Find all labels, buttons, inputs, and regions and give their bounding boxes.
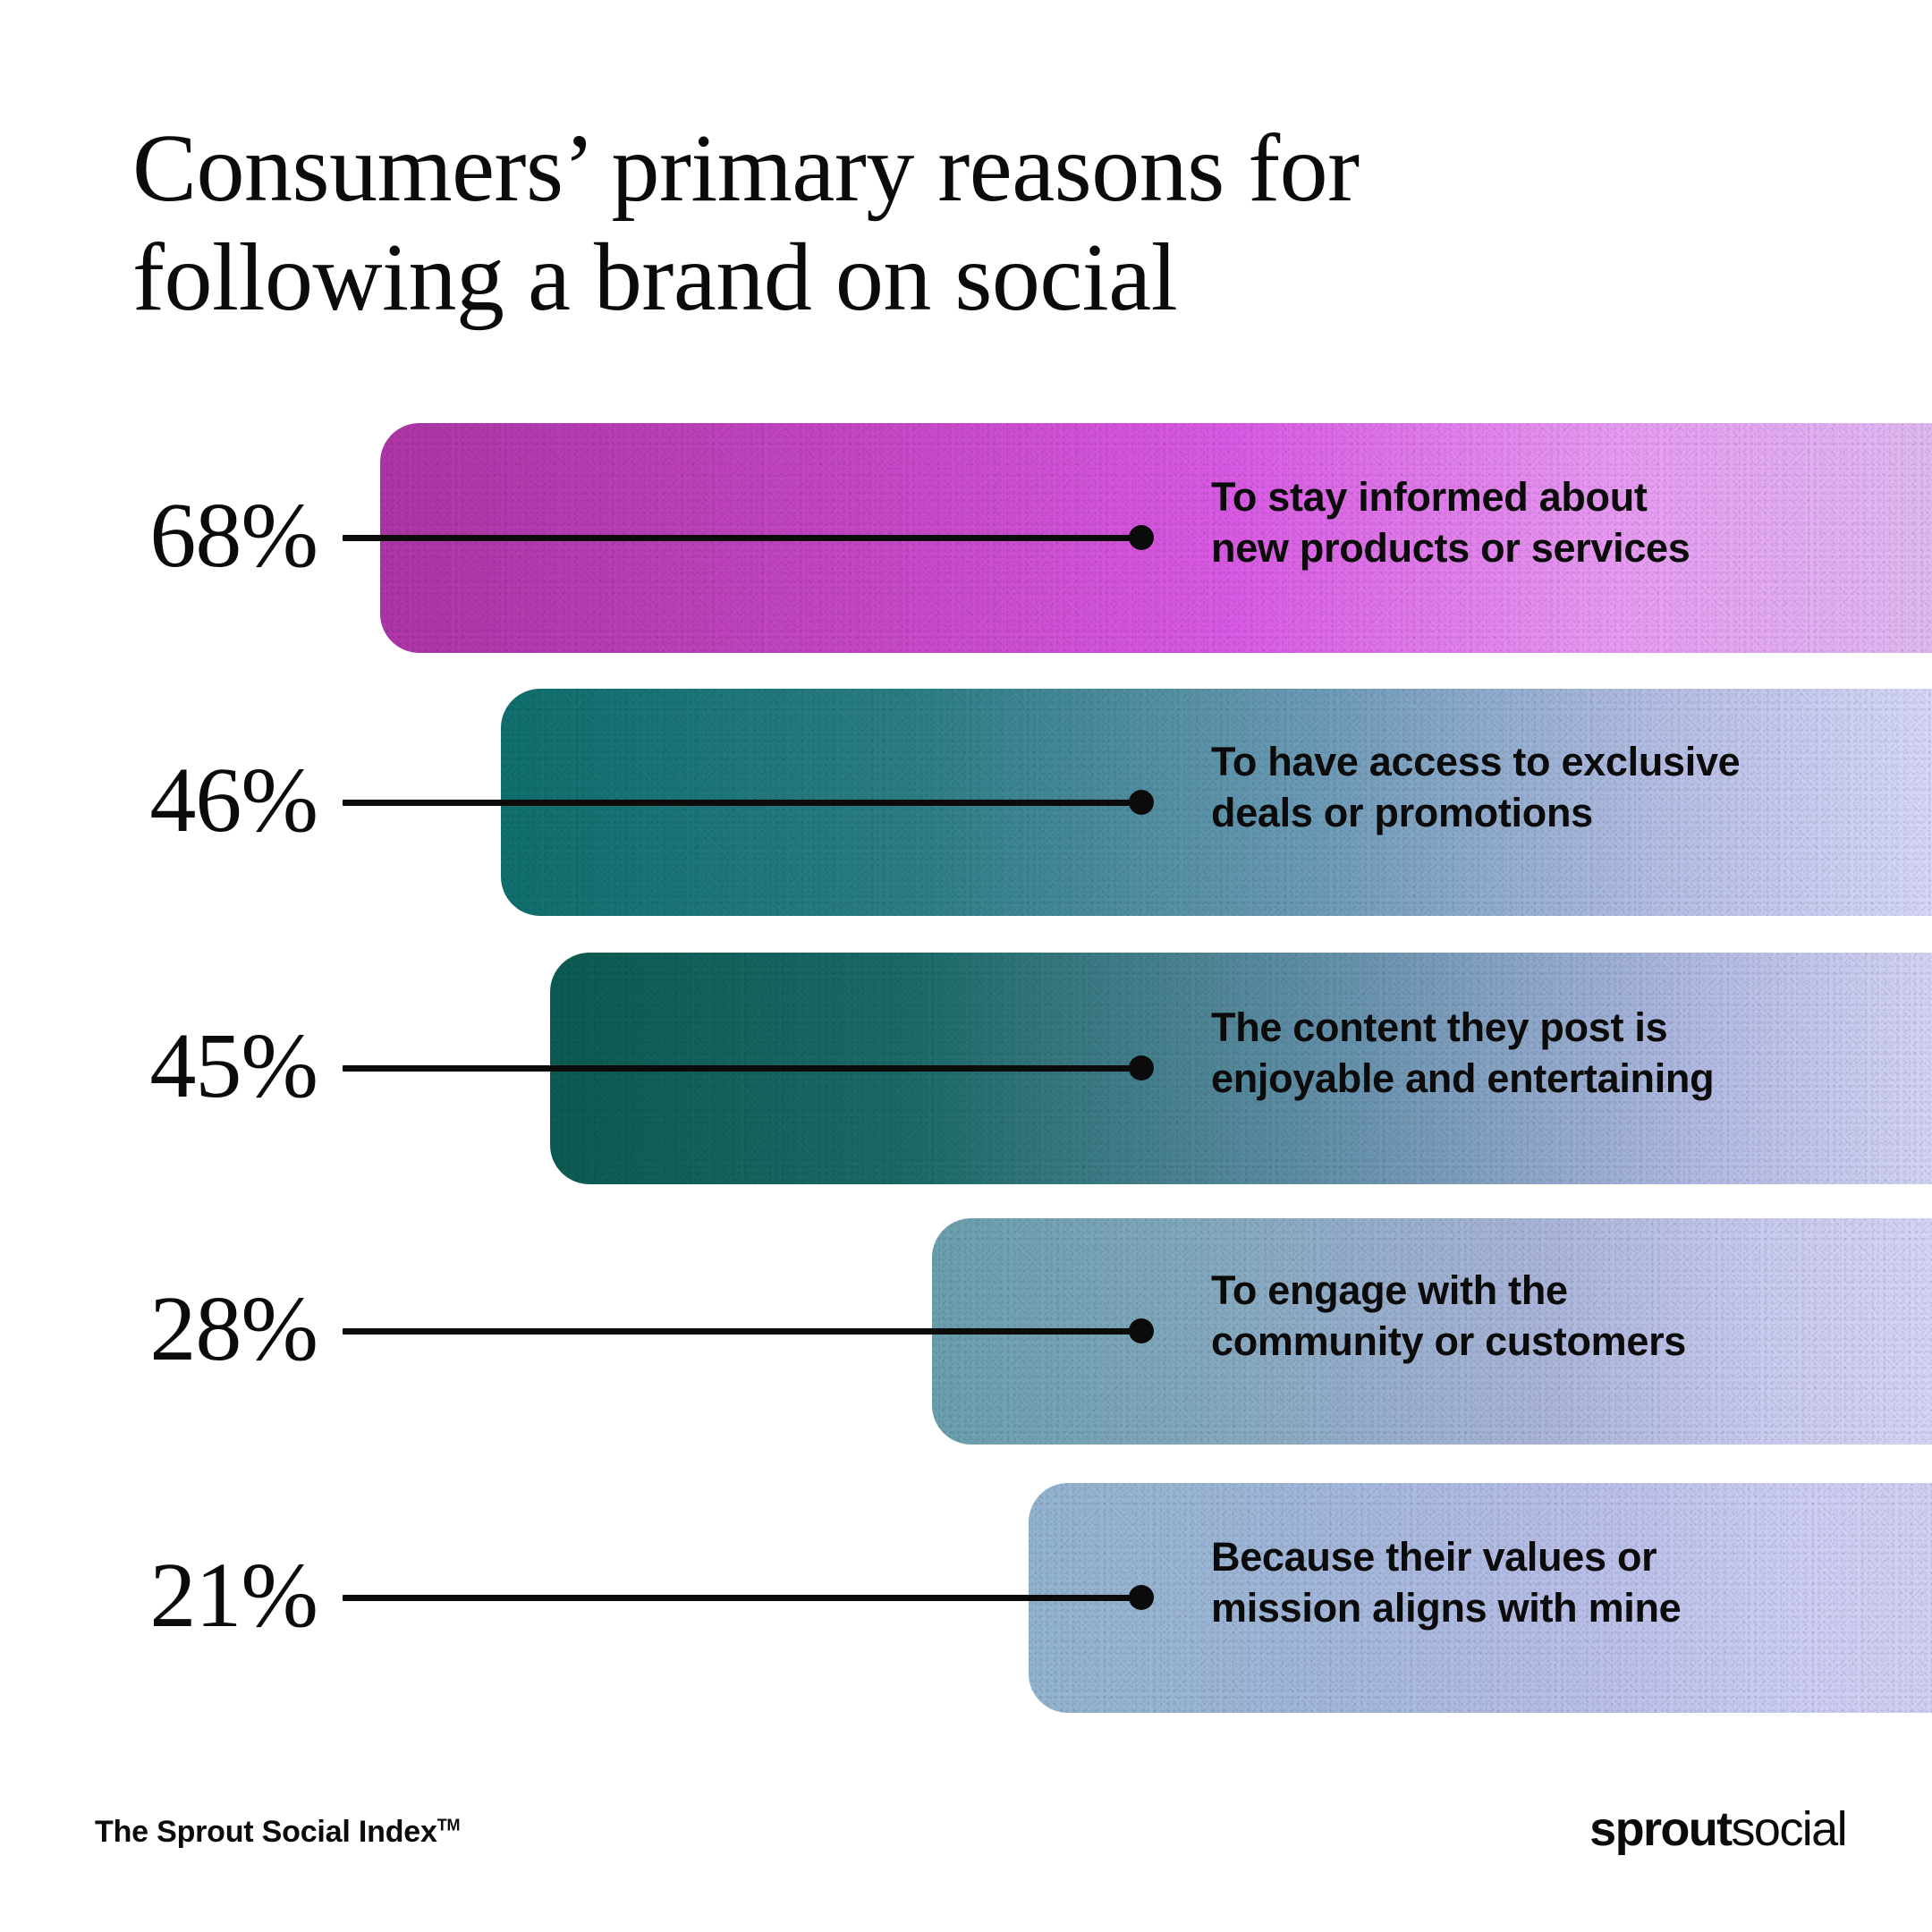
footer-source-label: The Sprout Social IndexTM [95,1815,460,1850]
bar-value-4: 28% [49,1283,318,1376]
infographic-canvas: Consumers’ primary reasons for following… [0,0,1932,1932]
chart-row: 68% To stay informed about new products … [0,423,1932,653]
bar-label-2: To have access to exclusive deals or pro… [1211,737,1891,838]
bar-value-5: 21% [49,1549,318,1642]
leader-dot-4 [1129,1318,1154,1343]
leader-dot-5 [1129,1585,1154,1610]
bar-value-3: 45% [49,1020,318,1113]
bar-value-2: 46% [49,754,318,847]
leader-line-4 [343,1328,1141,1335]
sprout-social-logo: sproutsocial [1589,1801,1846,1857]
bar-label-5: Because their values or mission aligns w… [1211,1532,1891,1633]
chart-row: 45% The content they post is enjoyable a… [0,953,1932,1184]
leader-dot-1 [1129,525,1154,550]
bar-chart: 68% To stay informed about new products … [0,0,1932,1932]
bar-label-3: The content they post is enjoyable and e… [1211,1003,1891,1104]
leader-line-3 [343,1065,1141,1072]
chart-row: 46% To have access to exclusive deals or… [0,689,1932,916]
leader-line-1 [343,535,1141,541]
bar-value-1: 68% [49,489,318,582]
chart-row: 28% To engage with the community or cust… [0,1218,1932,1445]
leader-dot-3 [1129,1055,1154,1080]
logo-word-social: social [1732,1802,1846,1856]
bar-label-1: To stay informed about new products or s… [1211,472,1891,573]
logo-word-sprout: sprout [1589,1802,1731,1856]
bar-label-4: To engage with the community or customer… [1211,1266,1891,1367]
leader-line-5 [343,1595,1141,1601]
chart-row: 21% Because their values or mission alig… [0,1483,1932,1713]
trademark-symbol: TM [437,1817,461,1835]
footer-source-text: The Sprout Social Index [95,1815,437,1849]
leader-line-2 [343,800,1141,806]
leader-dot-2 [1129,790,1154,815]
